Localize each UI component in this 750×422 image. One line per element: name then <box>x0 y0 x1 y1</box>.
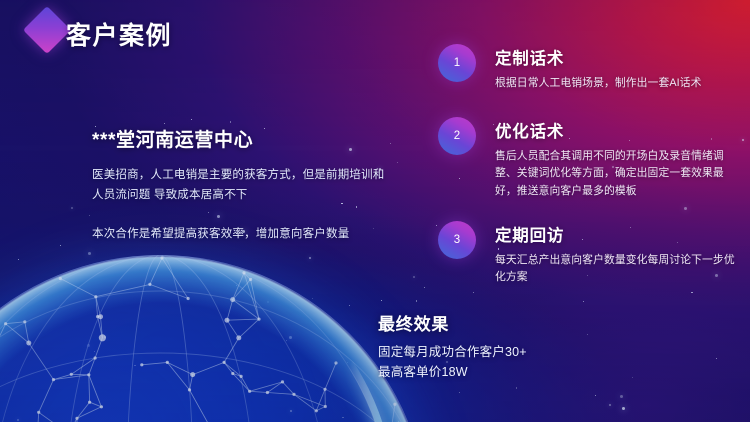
list-item: 2 优化话术 售后人员配合其调用不同的开场白及录音情绪调整、关键词优化等方面，确… <box>438 117 738 200</box>
step-body: 定制话术 根据日常人工电销场景，制作出一套AI话术 <box>438 44 702 92</box>
result-line-2: 最高客单价18W <box>378 362 668 382</box>
result-title: 最终效果 <box>378 310 668 335</box>
page-title: 客户案例 <box>66 16 172 52</box>
case-paragraph-1: 医美招商，人工电销是主要的获客方式，但是前期培训和人员流问题 导致成本居高不下 <box>92 165 392 205</box>
case-description-block: ***堂河南运营中心 医美招商，人工电销是主要的获客方式，但是前期培训和人员流问… <box>92 125 392 244</box>
step-description: 每天汇总产出意向客户数量变化每周讨论下一步优化方案 <box>495 252 738 287</box>
step-title: 定期回访 <box>495 222 738 246</box>
final-result-block: 最终效果 固定每月成功合作客户30+ 最高客单价18W <box>378 310 668 383</box>
case-title: ***堂河南运营中心 <box>92 125 392 152</box>
step-description: 售后人员配合其调用不同的开场白及录音情绪调整、关键词优化等方面，确定出固定一套效… <box>495 148 738 200</box>
slide-root: 客户案例 ***堂河南运营中心 医美招商，人工电销是主要的获客方式，但是前期培训… <box>0 0 750 422</box>
step-number-label: 3 <box>454 234 460 246</box>
list-item: 3 定期回访 每天汇总产出意向客户数量变化每周讨论下一步优化方案 <box>438 221 738 287</box>
diamond-icon <box>23 6 71 54</box>
step-number-badge: 3 <box>438 221 476 259</box>
step-body: 优化话术 售后人员配合其调用不同的开场白及录音情绪调整、关键词优化等方面，确定出… <box>438 117 738 200</box>
step-number-badge: 1 <box>438 44 476 82</box>
step-description: 根据日常人工电销场景，制作出一套AI话术 <box>495 75 702 92</box>
list-item: 1 定制话术 根据日常人工电销场景，制作出一套AI话术 <box>438 44 702 92</box>
step-number-badge: 2 <box>438 117 476 155</box>
step-number-label: 2 <box>454 130 460 142</box>
case-paragraph-2: 本次合作是希望提高获客效率，增加意向客户数量 <box>92 224 392 244</box>
step-title: 定制话术 <box>495 45 702 69</box>
step-body: 定期回访 每天汇总产出意向客户数量变化每周讨论下一步优化方案 <box>438 221 738 287</box>
step-title: 优化话术 <box>495 118 738 142</box>
step-number-label: 1 <box>454 57 460 69</box>
result-line-1: 固定每月成功合作客户30+ <box>378 342 668 362</box>
